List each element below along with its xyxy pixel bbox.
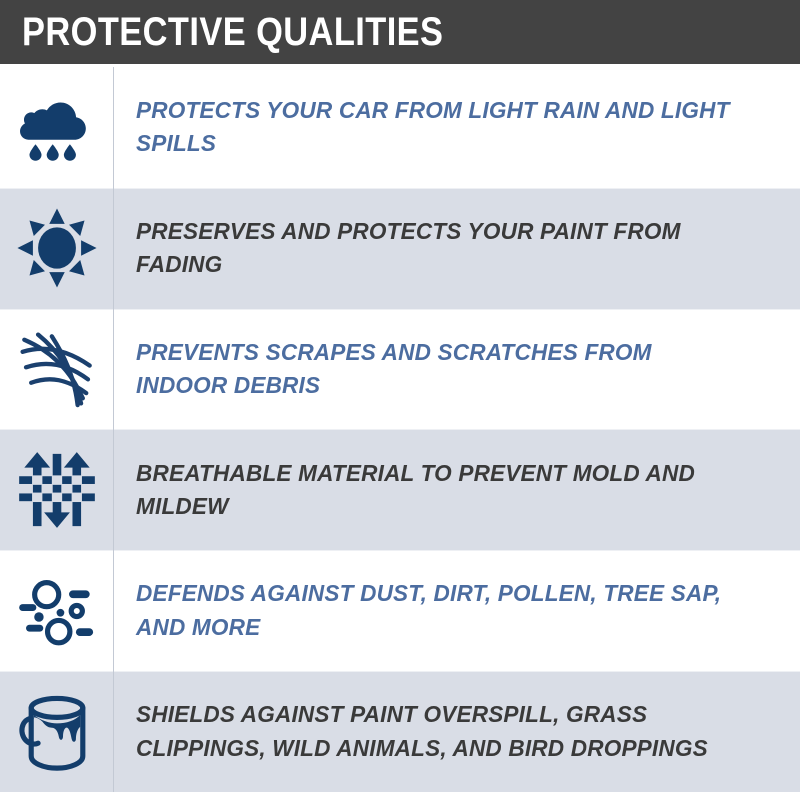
icon-cell bbox=[0, 429, 114, 550]
icon-cell bbox=[0, 671, 114, 792]
icon-cell bbox=[0, 309, 114, 430]
icon-cell bbox=[0, 550, 114, 671]
rain-cloud-icon bbox=[14, 84, 100, 170]
feature-text: PROTECTS YOUR CAR FROM LIGHT RAIN AND LI… bbox=[136, 94, 748, 161]
feature-row-breathable: BREATHABLE MATERIAL TO PREVENT MOLD AND … bbox=[0, 429, 800, 550]
dust-particles-icon bbox=[14, 568, 100, 654]
header-bar: PROTECTIVE QUALITIES bbox=[0, 0, 800, 64]
page-title: PROTECTIVE QUALITIES bbox=[22, 12, 443, 52]
feature-text: BREATHABLE MATERIAL TO PREVENT MOLD AND … bbox=[136, 457, 748, 524]
icon-cell bbox=[0, 67, 114, 188]
text-cell: BREATHABLE MATERIAL TO PREVENT MOLD AND … bbox=[114, 429, 800, 550]
feature-row-scratches: PREVENTS SCRAPES AND SCRATCHES FROM INDO… bbox=[0, 309, 800, 430]
breathable-airflow-icon bbox=[14, 447, 100, 533]
footer-strip bbox=[0, 792, 800, 800]
paint-can-icon bbox=[14, 689, 100, 775]
feature-text: DEFENDS AGAINST DUST, DIRT, POLLEN, TREE… bbox=[136, 577, 748, 644]
sun-icon bbox=[14, 205, 100, 291]
feature-text: PRESERVES AND PROTECTS YOUR PAINT FROM F… bbox=[136, 215, 748, 282]
feature-list: PROTECTS YOUR CAR FROM LIGHT RAIN AND LI… bbox=[0, 67, 800, 792]
feature-row-paint: SHIELDS AGAINST PAINT OVERSPILL, GRASS C… bbox=[0, 671, 800, 792]
feature-row-dust: DEFENDS AGAINST DUST, DIRT, POLLEN, TREE… bbox=[0, 550, 800, 671]
text-cell: PROTECTS YOUR CAR FROM LIGHT RAIN AND LI… bbox=[114, 67, 800, 188]
feature-text: SHIELDS AGAINST PAINT OVERSPILL, GRASS C… bbox=[136, 698, 748, 765]
icon-cell bbox=[0, 188, 114, 309]
feature-row-sun: PRESERVES AND PROTECTS YOUR PAINT FROM F… bbox=[0, 188, 800, 309]
feature-text: PREVENTS SCRAPES AND SCRATCHES FROM INDO… bbox=[136, 336, 748, 403]
text-cell: PRESERVES AND PROTECTS YOUR PAINT FROM F… bbox=[114, 188, 800, 309]
text-cell: PREVENTS SCRAPES AND SCRATCHES FROM INDO… bbox=[114, 309, 800, 430]
protective-qualities-infographic: PROTECTIVE QUALITIES PRO bbox=[0, 0, 800, 800]
feature-row-rain: PROTECTS YOUR CAR FROM LIGHT RAIN AND LI… bbox=[0, 67, 800, 188]
scratch-mesh-icon bbox=[14, 326, 100, 412]
text-cell: DEFENDS AGAINST DUST, DIRT, POLLEN, TREE… bbox=[114, 550, 800, 671]
text-cell: SHIELDS AGAINST PAINT OVERSPILL, GRASS C… bbox=[114, 671, 800, 792]
